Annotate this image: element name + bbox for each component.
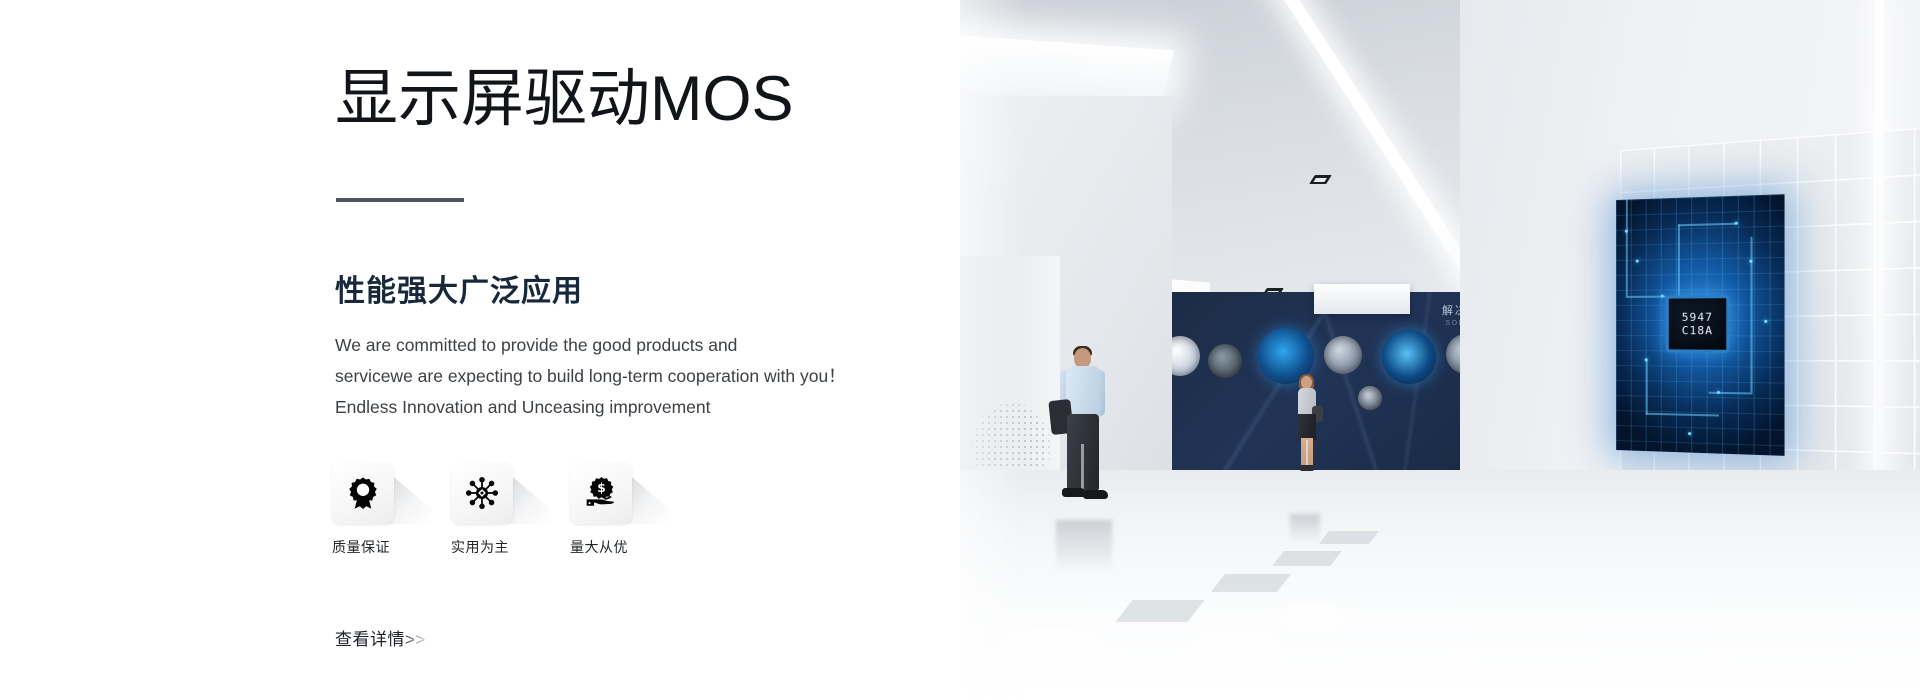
floor-light-reflection	[1260, 598, 1364, 638]
product-hero-banner: 显示屏驱动MOS 性能强大广泛应用 We are committed to pr…	[0, 0, 1920, 700]
wall-graphic-circle	[1324, 336, 1362, 374]
showroom-interior-photo: 解决方案 SOLUTION	[960, 0, 1920, 700]
floor-tile	[1319, 531, 1379, 544]
floor-tile	[1272, 551, 1342, 566]
exhibition-wall: 解决方案 SOLUTION	[1146, 292, 1506, 498]
feature-item-quality[interactable]: 质量保证	[332, 462, 394, 557]
feature-label: 实用为主	[451, 537, 513, 557]
person-walking-woman	[1290, 376, 1324, 472]
feature-tile: $	[570, 462, 632, 524]
led-chip-display-screen: 5947 C18A	[1616, 194, 1785, 456]
feature-label: 质量保证	[332, 537, 394, 557]
person-standing-man	[1052, 348, 1114, 508]
floor-light-reflection	[978, 620, 1128, 678]
banner-text-panel: 显示屏驱动MOS 性能强大广泛应用 We are committed to pr…	[0, 0, 960, 700]
description-line-3: Endless Innovation and Unceasing improve…	[335, 392, 895, 423]
view-details-label: 查看详情	[335, 630, 405, 649]
feature-label: 量大从优	[570, 537, 632, 557]
banner-description: We are committed to provide the good pro…	[335, 330, 895, 423]
floor-tile	[1115, 600, 1204, 622]
chip-code-line-2: C18A	[1682, 324, 1713, 336]
feature-item-practical[interactable]: 实用为主	[451, 462, 513, 557]
view-details-link[interactable]: 查看详情>>	[335, 625, 426, 650]
person-floor-reflection	[1056, 520, 1112, 572]
description-line-2: servicewe are expecting to build long-te…	[335, 361, 895, 392]
network-chip-icon	[465, 476, 499, 510]
hand-money-icon: $	[584, 476, 618, 510]
chip-graphic: 5947 C18A	[1666, 295, 1730, 353]
title-divider	[336, 198, 464, 202]
wall-graphic-circle	[1358, 386, 1382, 410]
feature-tile	[332, 462, 394, 524]
feature-tile	[451, 462, 513, 524]
hanging-panel	[1314, 284, 1410, 314]
person-floor-reflection	[1290, 514, 1320, 542]
view-details-arrows: >>	[405, 630, 426, 649]
feature-list: 质量保证	[332, 462, 632, 557]
chip-code-line-1: 5947	[1682, 311, 1713, 323]
wall-graphic-circle	[1382, 330, 1436, 384]
description-line-1: We are committed to provide the good pro…	[335, 330, 895, 361]
floor-tile	[1211, 574, 1291, 592]
award-ribbon-icon	[346, 476, 380, 510]
banner-subtitle: 性能强大广泛应用	[335, 266, 583, 310]
wall-graphic-circle	[1208, 344, 1242, 378]
svg-text:$: $	[597, 481, 606, 495]
page-title: 显示屏驱动MOS	[335, 63, 794, 135]
feature-item-bulk-discount[interactable]: $ 量大从优	[570, 462, 632, 557]
